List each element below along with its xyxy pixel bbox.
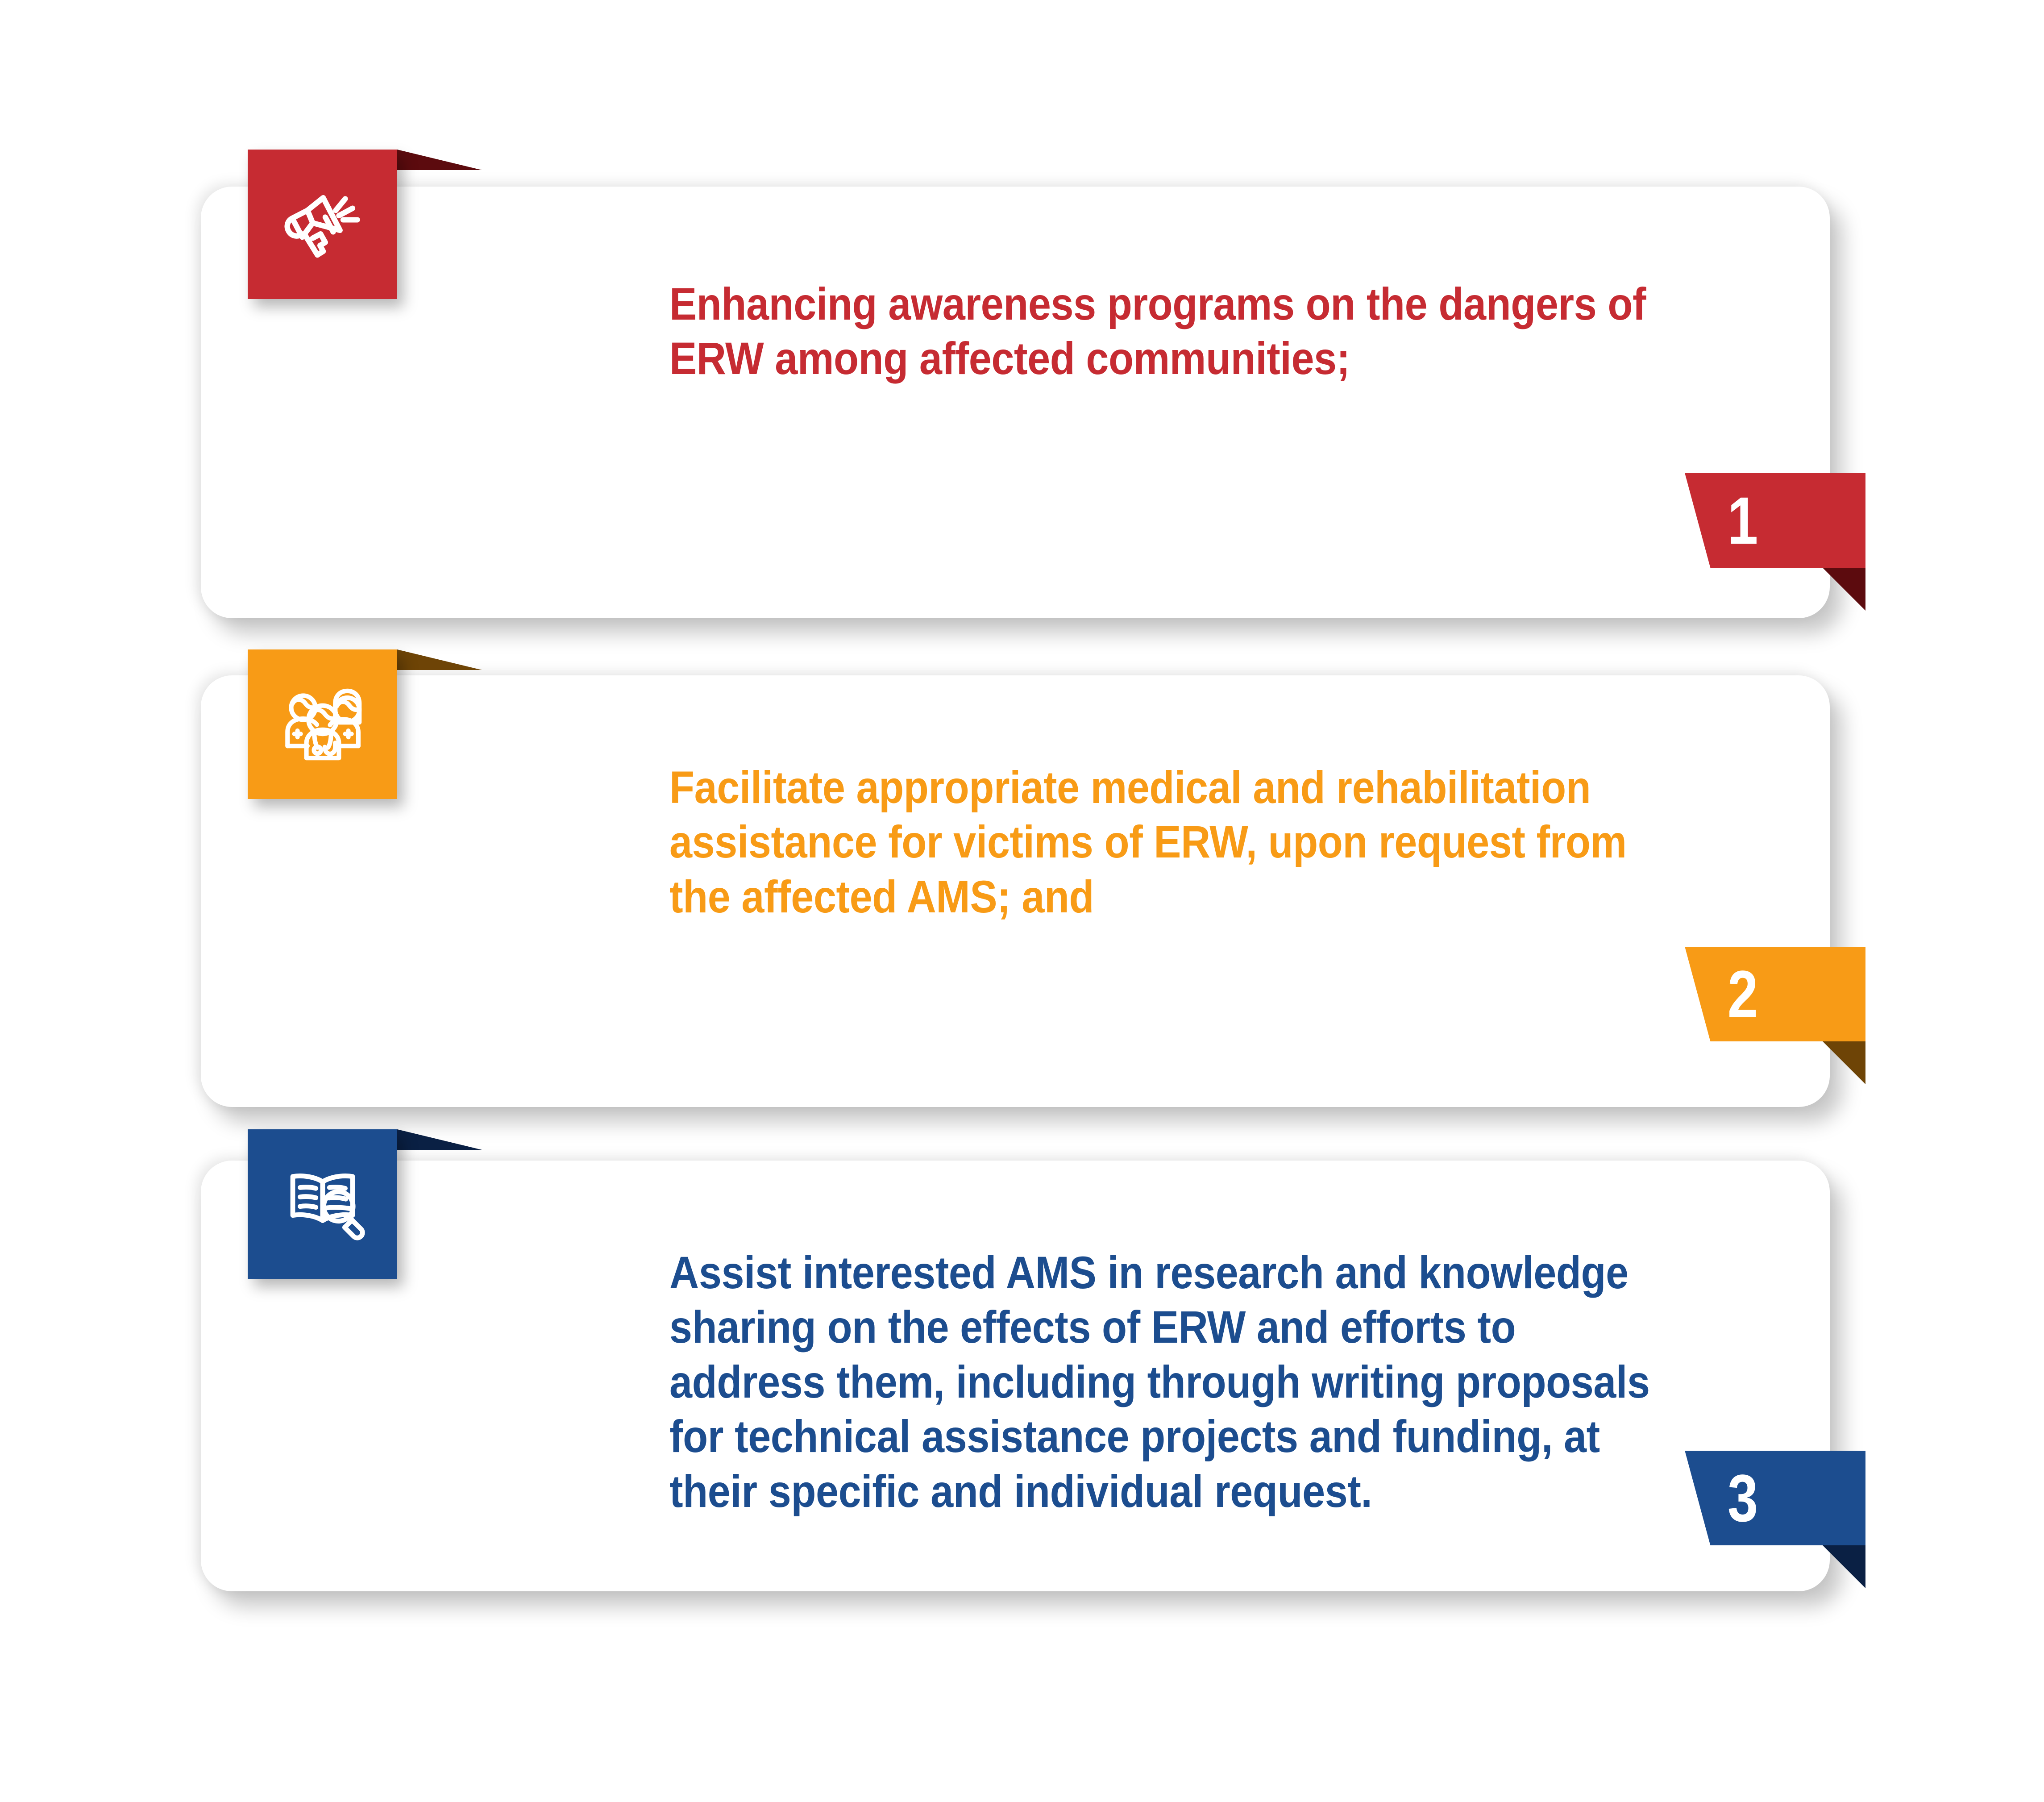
icon-tile-1 xyxy=(248,150,397,299)
number-ribbon-2: 2 xyxy=(1669,947,1865,1041)
ribbon-fold-2 xyxy=(1823,1041,1865,1084)
book-research-icon xyxy=(270,1152,375,1257)
info-card-2: Facilitate appropriate medical and rehab… xyxy=(201,675,1830,1107)
icon-tile-3 xyxy=(248,1129,397,1279)
ribbon-fold-3 xyxy=(1823,1545,1865,1588)
icon-tile-fold-2 xyxy=(397,649,482,670)
card-text-3: Assist interested AMS in research and kn… xyxy=(669,1245,1682,1519)
info-card-1: Enhancing awareness programs on the dang… xyxy=(201,187,1830,618)
number-ribbon-3: 3 xyxy=(1669,1451,1865,1545)
megaphone-icon xyxy=(270,172,375,277)
ribbon-fold-1 xyxy=(1823,568,1865,611)
icon-tile-fold-3 xyxy=(397,1129,482,1150)
card-number-1: 1 xyxy=(1687,487,1848,554)
info-card-3: Assist interested AMS in research and kn… xyxy=(201,1161,1830,1591)
card-number-2: 2 xyxy=(1687,961,1848,1028)
card-text-1: Enhancing awareness programs on the dang… xyxy=(669,277,1682,386)
card-number-3: 3 xyxy=(1687,1465,1848,1531)
icon-tile-fold-1 xyxy=(397,150,482,170)
medical-team-icon xyxy=(270,672,375,777)
number-ribbon-1: 1 xyxy=(1669,473,1865,568)
icon-tile-2 xyxy=(248,649,397,799)
card-text-2: Facilitate appropriate medical and rehab… xyxy=(669,760,1682,924)
